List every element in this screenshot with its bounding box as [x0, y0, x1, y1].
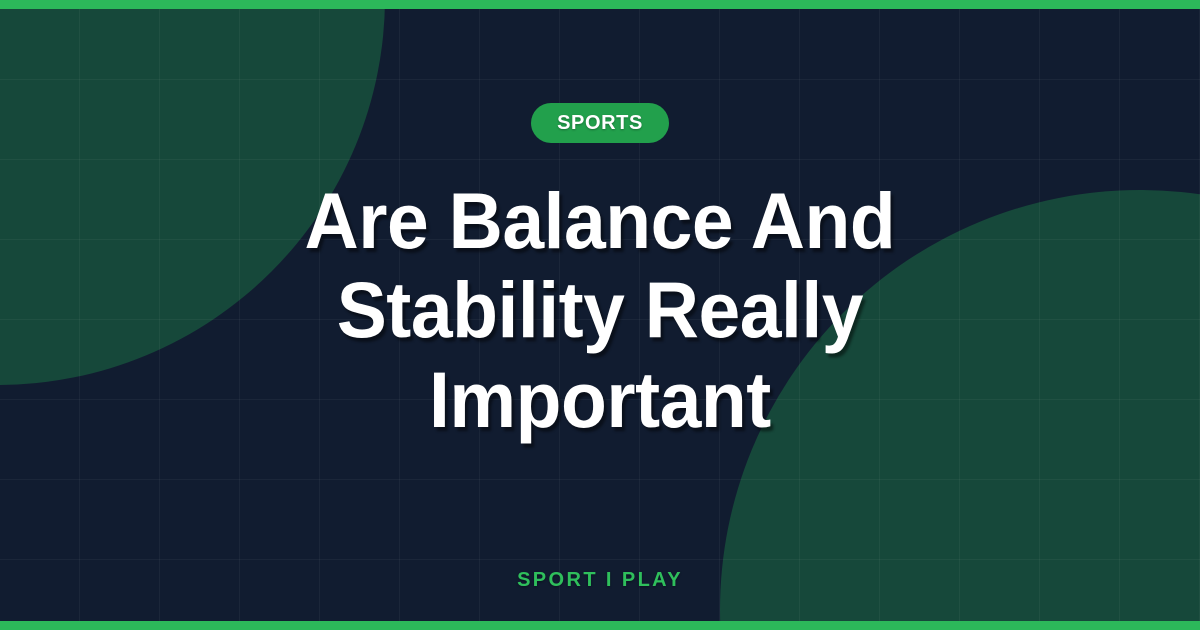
headline-line-2: Stability Really — [305, 265, 896, 354]
accent-bar-top — [0, 0, 1200, 9]
headline-line-3: Important — [305, 355, 896, 444]
page-title: Are Balance And Stability Really Importa… — [238, 176, 962, 444]
headline-line-1: Are Balance And — [305, 176, 896, 265]
card-content: SPORTS Are Balance And Stability Really … — [0, 0, 1200, 630]
category-badge[interactable]: SPORTS — [531, 103, 669, 143]
social-share-card: SPORTS Are Balance And Stability Really … — [0, 0, 1200, 630]
accent-bar-bottom — [0, 621, 1200, 630]
